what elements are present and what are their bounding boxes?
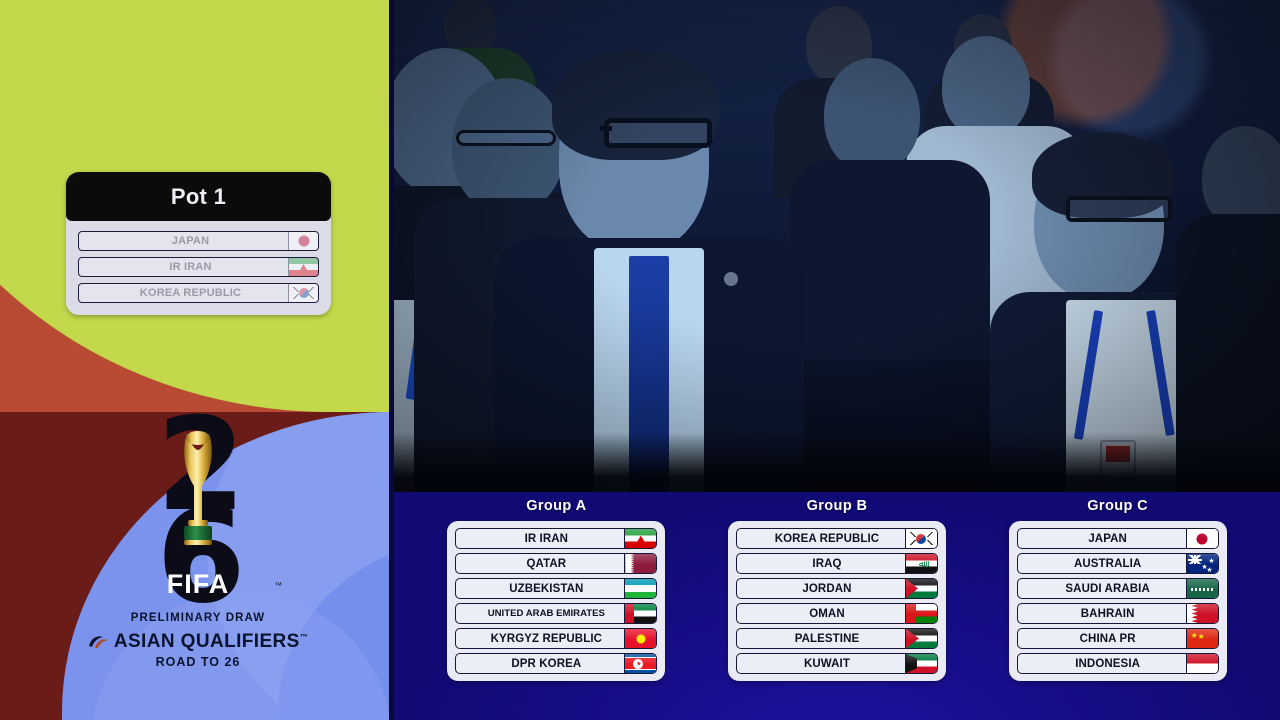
afc-swoosh-icon [88, 634, 110, 650]
flag-palestine-icon [905, 629, 937, 648]
flag-uzbekistan-icon [624, 579, 656, 598]
group-c-title: Group C [1009, 498, 1227, 514]
group-list-item: SAUDI ARABIA [1017, 578, 1219, 599]
asian-qualifiers-lockup: ASIAN QUALIFIERS™ [78, 631, 318, 653]
pot-list-item: JAPAN [78, 231, 319, 251]
group-list-item: CHINA PR [1017, 628, 1219, 649]
flag-saudi-arabia-icon [1186, 579, 1218, 598]
asian-qualifiers-text: ASIAN QUALIFIERS [114, 631, 300, 652]
group-column-b: Group B KOREA REPUBLIC IRAQ [728, 498, 946, 681]
group-team-name: QATAR [456, 558, 624, 570]
flag-dpr-korea-icon [624, 654, 656, 673]
flag-united-arab-emirates-icon [624, 604, 656, 623]
group-b-title: Group B [728, 498, 946, 514]
video-bottom-shade [394, 432, 1280, 492]
asian-qualifiers-tm: ™ [300, 633, 308, 642]
flag-korea-republic-icon [288, 284, 318, 302]
live-video-feed [394, 0, 1280, 492]
flag-australia-icon [1186, 554, 1218, 573]
flag-japan-icon [1186, 529, 1218, 548]
group-team-name: DPR KOREA [456, 658, 624, 670]
group-team-name: JORDAN [737, 583, 905, 595]
flag-kyrgyz-republic-icon [624, 629, 656, 648]
event-logo-lockup: 2 6 [78, 420, 318, 669]
group-list-item: IR IRAN [455, 528, 657, 549]
group-team-name: OMAN [737, 608, 905, 620]
group-column-c: Group C JAPAN AUSTRALIA [1009, 498, 1227, 681]
flag-ir-iran-icon [288, 258, 318, 276]
pot-list-item: KOREA REPUBLIC [78, 283, 319, 303]
broadcast-screen: Pot 1 JAPAN IR IRAN KOREA REPUBLIC [0, 0, 1280, 720]
group-list-item: UZBEKISTAN [455, 578, 657, 599]
video-vignette [394, 0, 1280, 492]
group-team-name: KUWAIT [737, 658, 905, 670]
group-list-item: AUSTRALIA [1017, 553, 1219, 574]
group-team-name: INDONESIA [1018, 658, 1186, 670]
flag-china-pr-icon [1186, 629, 1218, 648]
world-cup-trophy-icon [175, 428, 221, 560]
group-team-name: UNITED ARAB EMIRATES [456, 608, 624, 619]
group-list-item: UNITED ARAB EMIRATES [455, 603, 657, 624]
group-team-name: JAPAN [1018, 533, 1186, 545]
pot-team-name: KOREA REPUBLIC [79, 287, 288, 299]
flag-qatar-icon [624, 554, 656, 573]
flag-japan-icon [288, 232, 318, 250]
group-team-name: KOREA REPUBLIC [737, 533, 905, 545]
group-list-item: JORDAN [736, 578, 938, 599]
group-team-name: KYRGYZ REPUBLIC [456, 633, 624, 645]
flag-bahrain-icon [1186, 604, 1218, 623]
group-team-name: UZBEKISTAN [456, 583, 624, 595]
logo-fifa-wordmark: FIFA [118, 569, 278, 600]
pot-title: Pot 1 [171, 184, 226, 210]
group-a-card: IR IRAN QATAR UZBEKISTAN [447, 521, 665, 681]
group-c-card: JAPAN AUSTRALIA SAUDI ARABIA [1009, 521, 1227, 681]
group-list-item: DPR KOREA [455, 653, 657, 674]
flag-korea-republic-icon [905, 529, 937, 548]
groups-strip: Group A IR IRAN QATAR [394, 492, 1280, 720]
group-list-item: BAHRAIN [1017, 603, 1219, 624]
group-list-item: JAPAN [1017, 528, 1219, 549]
flag-iraq-icon [905, 554, 937, 573]
pot-list-item: IR IRAN [78, 257, 319, 277]
group-team-name: SAUDI ARABIA [1018, 583, 1186, 595]
fifa-world-cup-26-logo: 2 6 [118, 420, 278, 606]
group-team-name: AUSTRALIA [1018, 558, 1186, 570]
flag-ir-iran-icon [624, 529, 656, 548]
group-list-item: PALESTINE [736, 628, 938, 649]
group-team-name: BAHRAIN [1018, 608, 1186, 620]
event-tagline: ROAD TO 26 [78, 655, 318, 669]
pot-team-name: JAPAN [79, 235, 288, 247]
pot-card: Pot 1 JAPAN IR IRAN KOREA REPUBLIC [66, 172, 331, 315]
asian-qualifiers-wordmark: ASIAN QUALIFIERS™ [114, 631, 308, 653]
group-team-name: IRAQ [737, 558, 905, 570]
group-list-item: KYRGYZ REPUBLIC [455, 628, 657, 649]
flag-kuwait-icon [905, 654, 937, 673]
group-list-item: QATAR [455, 553, 657, 574]
group-team-name: CHINA PR [1018, 633, 1186, 645]
pot-team-list: JAPAN IR IRAN KOREA REPUBLIC [66, 221, 331, 303]
group-list-item: KOREA REPUBLIC [736, 528, 938, 549]
group-team-name: IR IRAN [456, 533, 624, 545]
group-list-item: IRAQ [736, 553, 938, 574]
group-team-name: PALESTINE [737, 633, 905, 645]
flag-indonesia-icon [1186, 654, 1218, 673]
group-list-item: OMAN [736, 603, 938, 624]
group-list-item: KUWAIT [736, 653, 938, 674]
group-a-title: Group A [447, 498, 665, 514]
group-b-card: KOREA REPUBLIC IRAQ JORDAN [728, 521, 946, 681]
group-list-item: INDONESIA [1017, 653, 1219, 674]
flag-jordan-icon [905, 579, 937, 598]
logo-trademark: ™ [274, 581, 282, 590]
flag-oman-icon [905, 604, 937, 623]
pot-header: Pot 1 [66, 172, 331, 221]
pot-team-name: IR IRAN [79, 261, 288, 273]
group-column-a: Group A IR IRAN QATAR [447, 498, 665, 681]
